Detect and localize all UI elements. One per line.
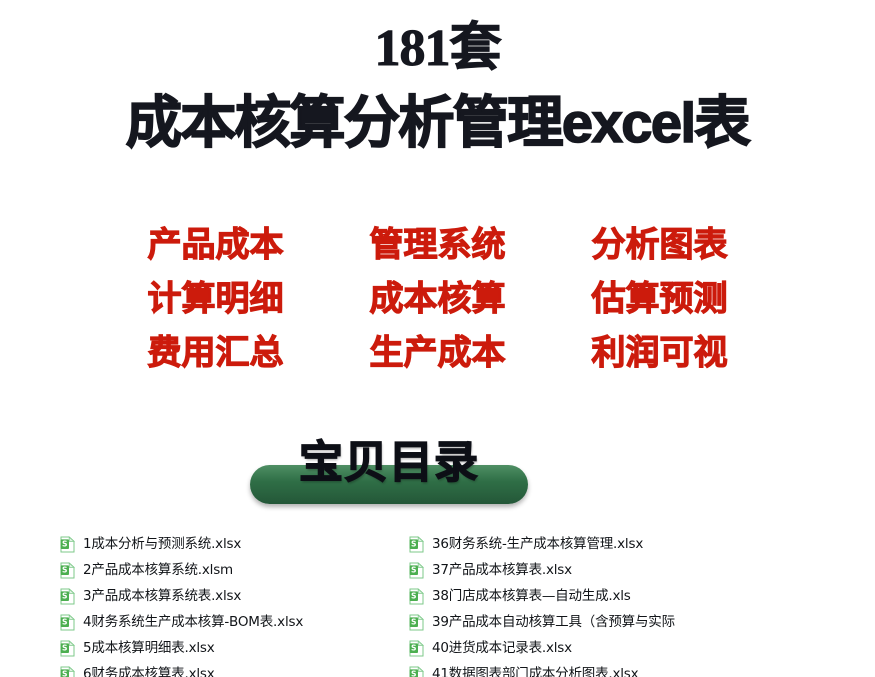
file-name: 41数据图表部门成本分析图表.xlsx bbox=[432, 666, 638, 677]
svg-text:S: S bbox=[411, 617, 416, 626]
excel-spreadsheet-icon: S bbox=[409, 666, 424, 677]
file-name: 3产品成本核算系统表.xlsx bbox=[83, 588, 241, 605]
excel-spreadsheet-icon: S bbox=[409, 614, 424, 631]
feature-keyword: 计算明细 bbox=[127, 282, 305, 316]
svg-text:S: S bbox=[411, 539, 416, 548]
file-listing: S 1成本分析与预测系统.xlsx S 2产品成本核算系统.xlsm bbox=[0, 531, 875, 677]
list-item[interactable]: S 6财务成本核算表.xlsx bbox=[60, 661, 410, 677]
feature-row: 产品成本 管理系统 分析图表 bbox=[0, 228, 875, 262]
feature-keyword: 生产成本 bbox=[349, 336, 527, 370]
excel-spreadsheet-icon: S bbox=[60, 562, 75, 579]
file-name: 38门店成本核算表—自动生成.xls bbox=[432, 588, 631, 605]
excel-spreadsheet-icon: S bbox=[60, 614, 75, 631]
svg-text:S: S bbox=[62, 565, 67, 574]
file-name: 4财务系统生产成本核算-BOM表.xlsx bbox=[83, 614, 303, 631]
feature-keyword: 费用汇总 bbox=[127, 336, 305, 370]
banner-label: 宝贝目录 bbox=[250, 441, 528, 485]
excel-spreadsheet-icon: S bbox=[60, 536, 75, 553]
file-name: 2产品成本核算系统.xlsm bbox=[83, 562, 233, 579]
feature-keyword: 利润可视 bbox=[571, 336, 749, 370]
file-name: 37产品成本核算表.xlsx bbox=[432, 562, 572, 579]
feature-keyword: 成本核算 bbox=[349, 282, 527, 316]
excel-spreadsheet-icon: S bbox=[60, 588, 75, 605]
svg-text:S: S bbox=[62, 617, 67, 626]
feature-keyword: 产品成本 bbox=[127, 228, 305, 262]
excel-spreadsheet-icon: S bbox=[409, 562, 424, 579]
list-item[interactable]: S 5成本核算明细表.xlsx bbox=[60, 635, 410, 661]
feature-keyword-grid: 产品成本 管理系统 分析图表 计算明细 成本核算 估算预测 费用汇总 生产成本 … bbox=[0, 228, 875, 370]
list-item[interactable]: S 37产品成本核算表.xlsx bbox=[409, 557, 829, 583]
svg-text:S: S bbox=[62, 643, 67, 652]
list-item[interactable]: S 39产品成本自动核算工具（含预算与实际 bbox=[409, 609, 829, 635]
file-column-right: S 36财务系统-生产成本核算管理.xlsx S 37产品成本核算表.xlsx bbox=[409, 531, 829, 677]
file-name: 39产品成本自动核算工具（含预算与实际 bbox=[432, 614, 675, 631]
svg-text:S: S bbox=[411, 591, 416, 600]
feature-keyword: 分析图表 bbox=[571, 228, 749, 262]
list-item[interactable]: S 36财务系统-生产成本核算管理.xlsx bbox=[409, 531, 829, 557]
hero-section: 181套 成本核算分析管理excel表 bbox=[0, 0, 875, 153]
svg-text:S: S bbox=[411, 669, 416, 677]
list-item[interactable]: S 4财务系统生产成本核算-BOM表.xlsx bbox=[60, 609, 410, 635]
promo-poster: 181套 成本核算分析管理excel表 产品成本 管理系统 分析图表 计算明细 … bbox=[0, 0, 875, 677]
file-name: 40进货成本记录表.xlsx bbox=[432, 640, 572, 657]
svg-text:S: S bbox=[411, 565, 416, 574]
excel-spreadsheet-icon: S bbox=[60, 640, 75, 657]
feature-row: 计算明细 成本核算 估算预测 bbox=[0, 282, 875, 316]
catalog-banner: 宝贝目录 bbox=[0, 465, 875, 507]
file-name: 1成本分析与预测系统.xlsx bbox=[83, 536, 241, 553]
file-column-left: S 1成本分析与预测系统.xlsx S 2产品成本核算系统.xlsm bbox=[60, 531, 410, 677]
svg-text:S: S bbox=[62, 591, 67, 600]
feature-keyword: 估算预测 bbox=[571, 282, 749, 316]
svg-text:S: S bbox=[62, 539, 67, 548]
list-item[interactable]: S 40进货成本记录表.xlsx bbox=[409, 635, 829, 661]
excel-spreadsheet-icon: S bbox=[60, 666, 75, 677]
file-name: 36财务系统-生产成本核算管理.xlsx bbox=[432, 536, 643, 553]
file-name: 6财务成本核算表.xlsx bbox=[83, 666, 215, 677]
svg-text:S: S bbox=[411, 643, 416, 652]
feature-keyword: 管理系统 bbox=[349, 228, 527, 262]
file-name: 5成本核算明细表.xlsx bbox=[83, 640, 215, 657]
list-item[interactable]: S 41数据图表部门成本分析图表.xlsx bbox=[409, 661, 829, 677]
list-item[interactable]: S 2产品成本核算系统.xlsm bbox=[60, 557, 410, 583]
excel-spreadsheet-icon: S bbox=[409, 588, 424, 605]
feature-row: 费用汇总 生产成本 利润可视 bbox=[0, 336, 875, 370]
svg-text:S: S bbox=[62, 669, 67, 677]
excel-spreadsheet-icon: S bbox=[409, 536, 424, 553]
excel-spreadsheet-icon: S bbox=[409, 640, 424, 657]
list-item[interactable]: S 3产品成本核算系统表.xlsx bbox=[60, 583, 410, 609]
list-item[interactable]: S 1成本分析与预测系统.xlsx bbox=[60, 531, 410, 557]
hero-count: 181套 bbox=[0, 0, 875, 77]
page-title: 成本核算分析管理excel表 bbox=[0, 77, 875, 153]
list-item[interactable]: S 38门店成本核算表—自动生成.xls bbox=[409, 583, 829, 609]
